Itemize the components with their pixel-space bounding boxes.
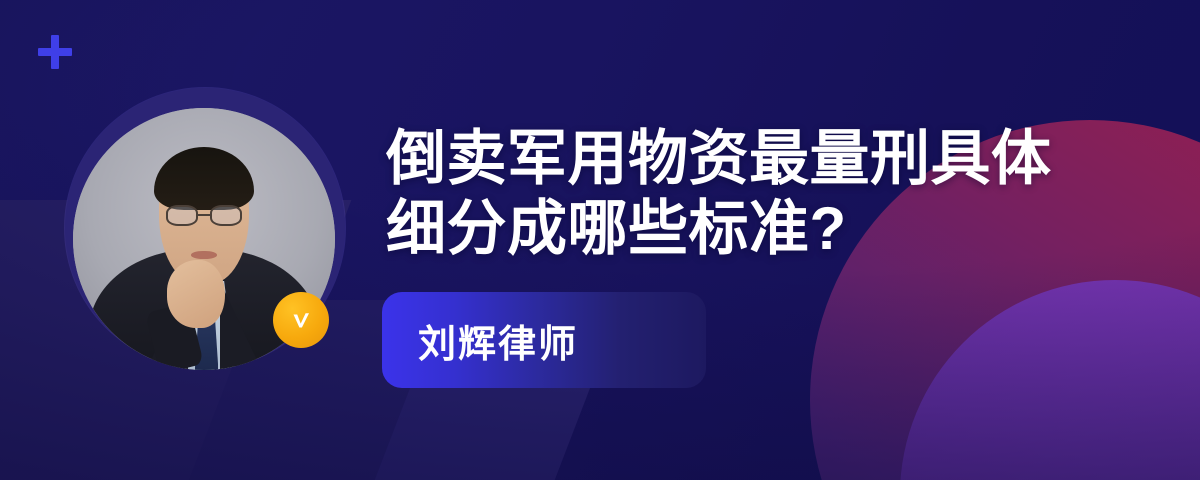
- verified-badge-icon: [273, 292, 329, 348]
- page-title: 倒卖军用物资最量刑具体 细分成哪些标准?: [386, 124, 1086, 264]
- portrait-glasses-lens-right: [210, 205, 242, 226]
- portrait-glasses-bridge: [198, 214, 210, 216]
- plus-icon: [38, 35, 72, 69]
- page-title-line-1: 倒卖军用物资最量刑具体: [386, 124, 1086, 194]
- portrait-hand: [167, 260, 225, 328]
- avatar: [65, 88, 345, 368]
- promo-banner: 倒卖军用物资最量刑具体 细分成哪些标准? 刘辉律师: [0, 0, 1200, 480]
- portrait-glasses-lens-left: [166, 205, 198, 226]
- author-name-badge: 刘辉律师: [382, 292, 706, 388]
- page-title-line-2: 细分成哪些标准?: [386, 194, 1086, 264]
- author-name-label: 刘辉律师: [418, 313, 578, 368]
- portrait-glasses: [166, 205, 242, 226]
- portrait-mouth: [191, 251, 217, 259]
- plus-icon-bar-vertical: [51, 35, 59, 69]
